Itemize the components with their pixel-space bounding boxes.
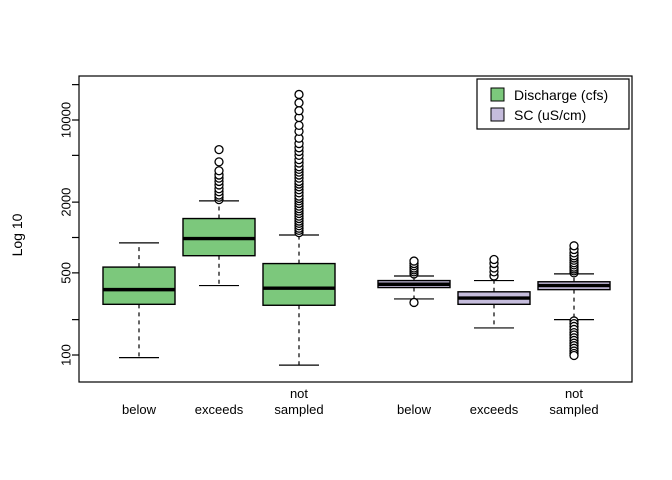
outlier-point — [215, 158, 223, 166]
outlier-point — [215, 167, 223, 175]
y-tick-label-500: 500 — [59, 262, 74, 284]
legend-label-discharge: Discharge (cfs) — [514, 87, 608, 103]
outlier-point — [570, 242, 578, 250]
outlier-point — [570, 352, 578, 360]
x-label: exceeds — [195, 402, 244, 417]
x-label-line2: sampled — [549, 402, 598, 417]
outlier-point — [295, 121, 303, 129]
x-label: exceeds — [470, 402, 519, 417]
outlier-point — [295, 90, 303, 98]
box-iqr — [263, 264, 335, 306]
boxplot-chart: Log 10 100500200010000 belowexceedsnotsa… — [0, 0, 672, 480]
legend-swatch-sc — [491, 108, 504, 121]
x-label: below — [122, 402, 157, 417]
x-label-line2: sampled — [274, 402, 323, 417]
outlier-point — [490, 255, 498, 263]
legend-swatch-discharge — [491, 88, 504, 101]
y-tick-label-2000: 2000 — [59, 188, 74, 217]
legend-label-sc: SC (uS/cm) — [514, 107, 586, 123]
x-label: below — [397, 402, 432, 417]
x-label-line1: not — [290, 386, 308, 401]
y-axis-title: Log 10 — [9, 213, 25, 256]
outlier-point — [295, 99, 303, 107]
chart-root: Log 10 100500200010000 belowexceedsnotsa… — [0, 0, 672, 480]
outlier-point — [410, 257, 418, 265]
y-tick-label-100: 100 — [59, 344, 74, 366]
y-tick-label-10000: 10000 — [59, 102, 74, 138]
outlier-point — [215, 146, 223, 154]
outlier-point — [295, 107, 303, 115]
legend: Discharge (cfs) SC (uS/cm) — [477, 79, 629, 129]
x-label-line1: not — [565, 386, 583, 401]
outlier-point — [410, 298, 418, 306]
box-iqr — [103, 267, 175, 304]
